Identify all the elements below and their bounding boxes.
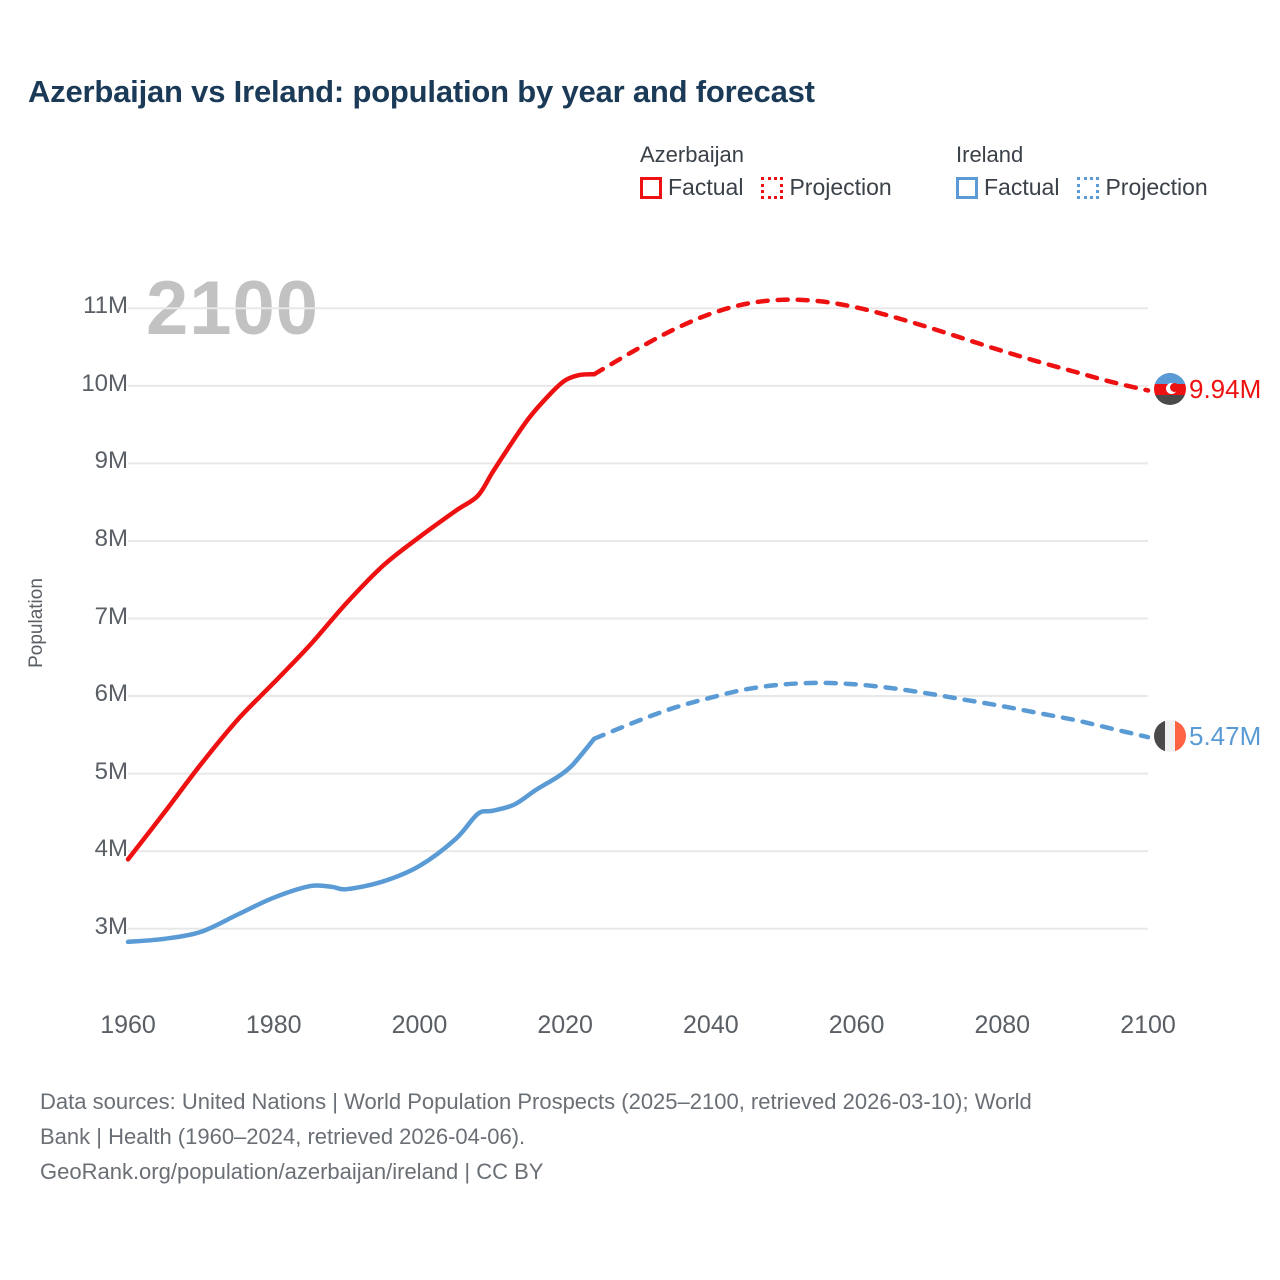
legend-item-label: Projection [789, 174, 891, 201]
series-line-azerbaijan-projection [594, 300, 1148, 391]
legend-group-azerbaijan: Azerbaijan Factual Projection [640, 142, 892, 201]
y-axis-tick-label: 5M [28, 758, 128, 786]
ireland-flag-icon [1154, 720, 1186, 752]
legend-item-azerbaijan-factual[interactable]: Factual [640, 174, 743, 201]
legend-group-title-azerbaijan: Azerbaijan [640, 142, 892, 168]
legend-swatch-dotted-icon [761, 177, 783, 199]
footer-credits: Data sources: United Nations | World Pop… [40, 1086, 1250, 1188]
x-axis-tick-label: 2060 [797, 1011, 917, 1040]
legend-item-ireland-projection[interactable]: Projection [1077, 174, 1207, 201]
y-axis-tick-label: 10M [28, 370, 128, 398]
legend-swatch-solid-icon [640, 177, 662, 199]
y-axis-tick-label: 9M [28, 447, 128, 475]
y-axis-tick-label: 7M [28, 603, 128, 631]
y-axis-tick-label: 4M [28, 835, 128, 863]
y-axis-tick-label: 3M [28, 913, 128, 941]
y-axis-tick-label: 8M [28, 525, 128, 553]
x-axis-tick-label: 1960 [68, 1011, 188, 1040]
series-line-azerbaijan-factual [128, 374, 594, 859]
end-label-ireland: 5.47M [1154, 720, 1261, 752]
legend-swatch-dotted-icon [1077, 177, 1099, 199]
end-label-value: 9.94M [1189, 374, 1261, 405]
x-axis-tick-label: 1980 [214, 1011, 334, 1040]
x-axis-tick-label: 2040 [651, 1011, 771, 1040]
footer-line-1: Data sources: United Nations | World Pop… [40, 1086, 1250, 1117]
y-axis-tick-label: 6M [28, 680, 128, 708]
legend-group-title-ireland: Ireland [956, 142, 1208, 168]
end-label-azerbaijan: 9.94M [1154, 373, 1261, 405]
legend-item-azerbaijan-projection[interactable]: Projection [761, 174, 891, 201]
legend-item-label: Projection [1105, 174, 1207, 201]
legend-item-ireland-factual[interactable]: Factual [956, 174, 1059, 201]
series-line-ireland-projection [594, 683, 1148, 739]
series-line-ireland-factual [128, 739, 594, 942]
y-axis-tick-label: 11M [28, 292, 128, 320]
footer-line-3[interactable]: GeoRank.org/population/azerbaijan/irelan… [40, 1156, 1250, 1187]
legend-item-label: Factual [668, 174, 743, 201]
legend-item-label: Factual [984, 174, 1059, 201]
end-label-value: 5.47M [1189, 721, 1261, 752]
x-axis-tick-label: 2080 [942, 1011, 1062, 1040]
footer-line-2: Bank | Health (1960–2024, retrieved 2026… [40, 1121, 1250, 1152]
legend-group-ireland: Ireland Factual Projection [956, 142, 1208, 201]
legend-swatch-solid-icon [956, 177, 978, 199]
chart-root: Azerbaijan vs Ireland: population by yea… [0, 0, 1280, 1280]
x-axis-tick-label: 2020 [505, 1011, 625, 1040]
azerbaijan-flag-icon [1154, 373, 1186, 405]
year-watermark: 2100 [146, 271, 319, 347]
page-title: Azerbaijan vs Ireland: population by yea… [28, 74, 815, 110]
x-axis-tick-label: 2000 [359, 1011, 479, 1040]
chart-legend: Azerbaijan Factual Projection Ireland Fa… [640, 142, 1250, 222]
x-axis-tick-label: 2100 [1088, 1011, 1208, 1040]
